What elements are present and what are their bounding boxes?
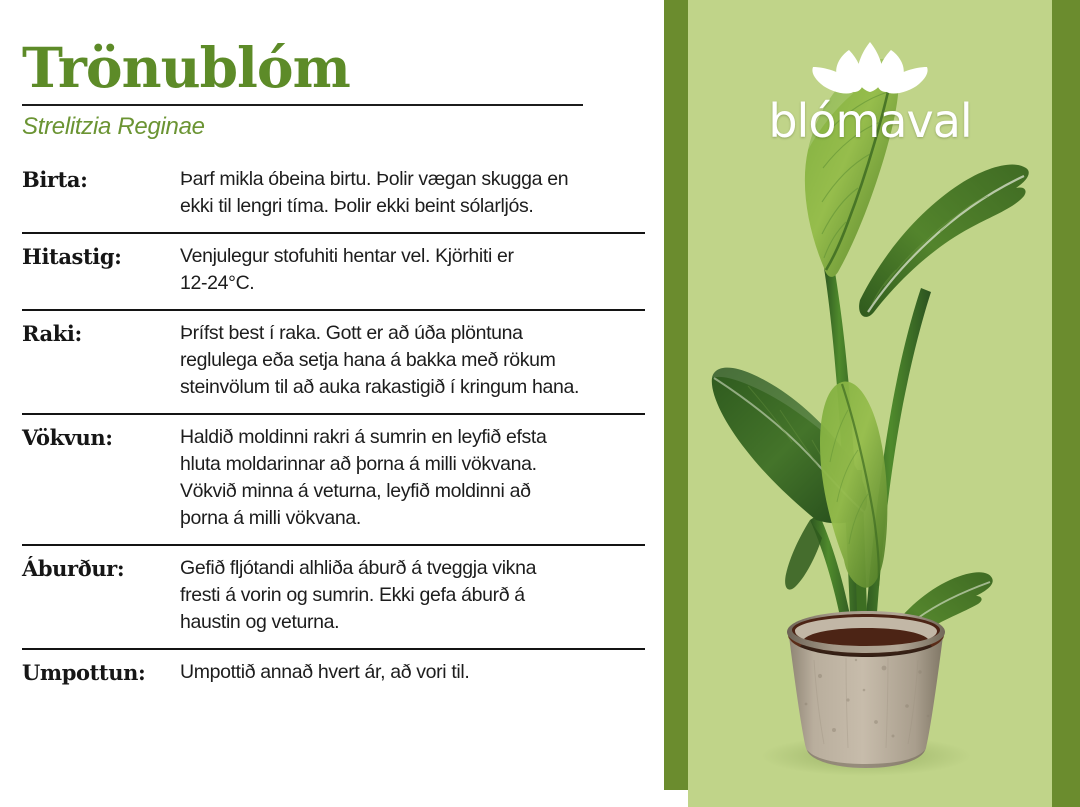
title-divider: [22, 104, 583, 106]
lotus-flower-icon: [736, 40, 1004, 101]
care-label-vokvun: Vökvun:: [22, 424, 180, 451]
table-row: Hitastig: Venjulegur stofuhiti hentar ve…: [22, 232, 645, 309]
care-label-aburdur: Áburður:: [22, 555, 180, 582]
care-label-birta: Birta:: [22, 166, 180, 193]
care-line: fresti á vorin og sumrin. Ekki gefa ábur…: [180, 582, 645, 609]
plant-care-card: Trönublóm Strelitzia Reginae Birta: Þarf…: [0, 0, 664, 807]
table-row: Raki: Þrífst best í raka. Gott er að úða…: [22, 309, 645, 413]
care-line: Umpottið annað hvert ár, að vori til.: [180, 659, 645, 686]
care-line: Venjulegur stofuhiti hentar vel. Kjörhit…: [180, 243, 645, 270]
care-line: Vökvið minna á veturna, leyfið moldinni …: [180, 478, 645, 505]
care-line: Þarf mikla óbeina birtu. Þolir vægan sku…: [180, 166, 645, 193]
brand-panel: blómaval: [664, 0, 1080, 807]
care-label-umpottun: Umpottun:: [22, 659, 180, 686]
panel-stripe-right: [1052, 0, 1080, 807]
care-line: ekki til lengri tíma. Þolir ekki beint s…: [180, 193, 645, 220]
title-block: Trönublóm Strelitzia Reginae: [22, 38, 584, 142]
table-row: Vökvun: Haldið moldinni rakri á sumrin e…: [22, 413, 645, 544]
page-title: Trönublóm: [22, 38, 584, 98]
brand-logo[interactable]: blómaval: [736, 40, 1004, 145]
care-label-hitastig: Hitastig:: [22, 243, 180, 270]
care-text-raki: Þrífst best í raka. Gott er að úða plönt…: [180, 320, 645, 401]
care-text-birta: Þarf mikla óbeina birtu. Þolir vægan sku…: [180, 166, 645, 220]
panel-stripe-left: [664, 0, 688, 790]
care-line: haustin og veturna.: [180, 609, 645, 636]
care-line: Þrífst best í raka. Gott er að úða plönt…: [180, 320, 645, 347]
care-text-hitastig: Venjulegur stofuhiti hentar vel. Kjörhit…: [180, 243, 645, 297]
brand-wordmark: blómaval: [736, 97, 1004, 145]
care-line: reglulega eða setja hana á bakka með rök…: [180, 347, 645, 374]
care-text-aburdur: Gefið fljótandi alhliða áburð á tveggja …: [180, 555, 645, 636]
care-line: steinvölum til að auka rakastigið í krin…: [180, 374, 645, 401]
panel-background: blómaval: [688, 0, 1052, 807]
table-row: Umpottun: Umpottið annað hvert ár, að vo…: [22, 648, 645, 692]
table-row: Áburður: Gefið fljótandi alhliða áburð á…: [22, 544, 645, 648]
care-text-vokvun: Haldið moldinni rakri á sumrin en leyfið…: [180, 424, 645, 532]
care-line: Haldið moldinni rakri á sumrin en leyfið…: [180, 424, 645, 451]
care-line: hluta moldarinnar að þorna á milli vökva…: [180, 451, 645, 478]
care-instructions-table: Birta: Þarf mikla óbeina birtu. Þolir væ…: [22, 166, 645, 692]
care-line: þorna á milli vökvana.: [180, 505, 645, 532]
care-line: 12-24°C.: [180, 270, 645, 297]
latin-name: Strelitzia Reginae: [22, 112, 584, 142]
care-label-raki: Raki:: [22, 320, 180, 347]
table-row: Birta: Þarf mikla óbeina birtu. Þolir væ…: [22, 166, 645, 232]
care-line: Gefið fljótandi alhliða áburð á tveggja …: [180, 555, 645, 582]
care-text-umpottun: Umpottið annað hvert ár, að vori til.: [180, 659, 645, 686]
